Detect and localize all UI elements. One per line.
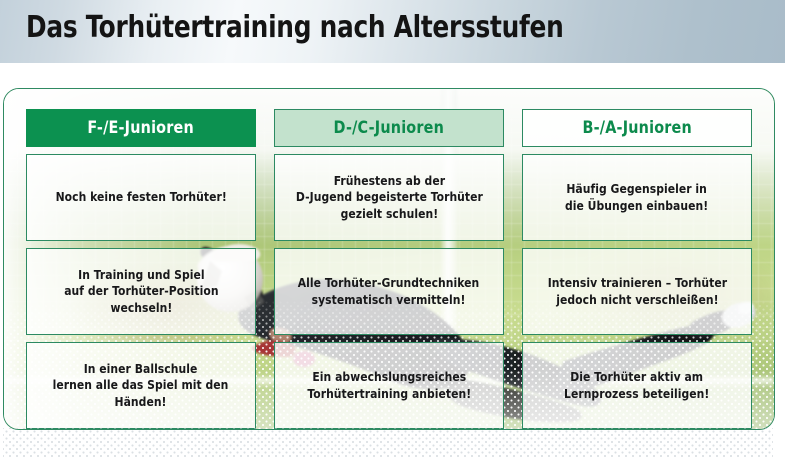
column-header-b-a-junioren[interactable]: B-/A-Junioren — [522, 109, 752, 147]
column-b-a-junioren: B-/A-Junioren Häufig Gegenspieler in die… — [522, 109, 752, 429]
content-panel: F-/E-Junioren Noch keine festen Torhüter… — [3, 88, 775, 430]
column-header-label: B-/A-Junioren — [582, 118, 691, 138]
column-header-label: F-/E-Junioren — [88, 118, 194, 138]
info-box-text: Ein abwechslungsreiches Torhütertraining… — [307, 369, 471, 402]
info-box-text: Frühestens ab der D-Jugend begeisterte T… — [296, 173, 483, 222]
info-box[interactable]: Ein abwechslungsreiches Torhütertraining… — [274, 342, 504, 429]
info-box[interactable]: Frühestens ab der D-Jugend begeisterte T… — [274, 154, 504, 241]
info-box[interactable]: In Training und Spiel auf der Torhüter-P… — [26, 248, 256, 335]
age-group-columns: F-/E-Junioren Noch keine festen Torhüter… — [4, 89, 774, 429]
info-box-text: Noch keine festen Torhüter! — [55, 189, 226, 205]
column-header-d-c-junioren[interactable]: D-/C-Junioren — [274, 109, 504, 147]
column-f-e-junioren: F-/E-Junioren Noch keine festen Torhüter… — [26, 109, 256, 429]
info-box[interactable]: Noch keine festen Torhüter! — [26, 154, 256, 241]
page-title: Das Torhütertraining nach Altersstufen — [26, 10, 563, 45]
info-box-text: Alle Torhüter-Grundtechniken systematisc… — [298, 275, 479, 308]
info-box-text: Häufig Gegenspieler in die Übungen einba… — [565, 181, 708, 214]
info-box[interactable]: Die Torhüter aktiv am Lernprozess beteil… — [522, 342, 752, 429]
column-header-f-e-junioren[interactable]: F-/E-Junioren — [26, 109, 256, 147]
page-root: Das Torhütertraining nach Altersstufen — [0, 0, 785, 457]
info-box[interactable]: Intensiv trainieren – Torhüter jedoch ni… — [522, 248, 752, 335]
column-header-label: D-/C-Junioren — [334, 118, 444, 138]
info-box-text: Intensiv trainieren – Torhüter jedoch ni… — [547, 275, 726, 308]
info-box-text: Die Torhüter aktiv am Lernprozess beteil… — [564, 369, 709, 402]
info-box-text: In Training und Spiel auf der Torhüter-P… — [64, 267, 218, 316]
header-banner: Das Torhütertraining nach Altersstufen — [0, 0, 785, 63]
column-d-c-junioren: D-/C-Junioren Frühestens ab der D-Jugend… — [274, 109, 504, 429]
info-box-text: In einer Ballschule lernen alle das Spie… — [53, 361, 229, 410]
halftone-dot-strip-below — [3, 428, 773, 457]
info-box[interactable]: Alle Torhüter-Grundtechniken systematisc… — [274, 248, 504, 335]
info-box[interactable]: Häufig Gegenspieler in die Übungen einba… — [522, 154, 752, 241]
info-box[interactable]: In einer Ballschule lernen alle das Spie… — [26, 342, 256, 429]
